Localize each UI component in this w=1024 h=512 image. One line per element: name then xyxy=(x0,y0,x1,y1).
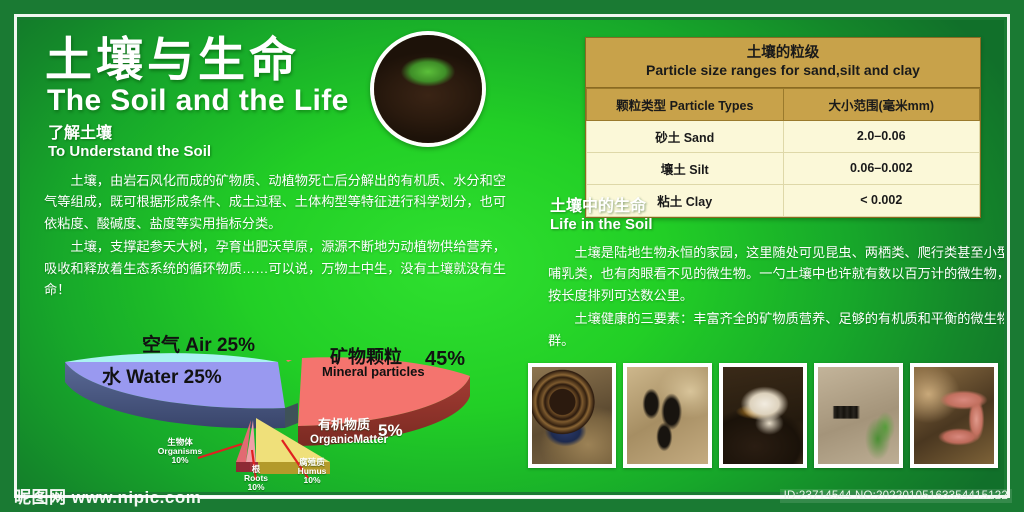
breakout-humus: 腐殖质 Humus 10% xyxy=(286,458,338,486)
soil-composition-pie-chart: 空气 Air 25% 水 Water 25% 矿物颗粒 Mineral part… xyxy=(40,310,480,490)
table-row: 砂土 Sand 2.0–0.06 xyxy=(587,120,980,152)
cell-type-sand: 砂土 Sand xyxy=(587,120,784,152)
breakout-roots: 根 Roots 10% xyxy=(232,465,280,492)
pie-label-air: 空气 Air 25% xyxy=(142,330,255,357)
cell-type-silt: 壤土 Silt xyxy=(587,152,784,184)
table-header-size-range: 大小范围(毫米mm) xyxy=(783,88,980,120)
pie-label-mineral-en: Mineral particles xyxy=(322,364,425,379)
left-heading-cn: 了解土壤 xyxy=(48,125,211,143)
right-heading-cn: 土壤中的生命 xyxy=(550,198,653,216)
breakout-organisms-pct: 10% xyxy=(148,456,212,465)
pie-label-water: 水 Water 25% xyxy=(102,362,222,389)
table-title-en: Particle size ranges for sand,silt and c… xyxy=(590,62,976,80)
breakout-humus-pct: 10% xyxy=(286,476,338,485)
left-paragraph-2: 土壤，支撑起参天大树，孕育出肥沃草原，源源不断地为动植物供给营养，吸收和释放着生… xyxy=(44,236,506,300)
table-row: 壤土 Silt 0.06–0.002 xyxy=(587,152,980,184)
photo-snail xyxy=(528,363,616,468)
table-header-particle-types: 颗粒类型 Particle Types xyxy=(587,88,784,120)
pie-label-mineral-pct: 45% xyxy=(425,348,465,371)
table-title: 土壤的粒级 Particle size ranges for sand,silt… xyxy=(586,38,980,88)
pie-chart-svg xyxy=(40,310,480,490)
pie-gap-shadow xyxy=(285,403,298,428)
page-title-en: The Soil and the Life xyxy=(47,86,349,116)
page-title-cn: 土壤与生命 xyxy=(45,36,300,83)
soil-life-photo-strip xyxy=(528,363,998,468)
photo-millipede xyxy=(814,363,902,468)
table-header-row: 颗粒类型 Particle Types 大小范围(毫米mm) xyxy=(587,88,980,120)
pie-label-organic-pct: 5% xyxy=(378,422,403,440)
right-paragraph-1: 土壤是陆地生物永恒的家园，这里随处可见昆虫、两栖类、爬行类甚至小型哺乳类，也有肉… xyxy=(548,242,1004,306)
photo-mushroom xyxy=(719,363,807,468)
right-body-text: 土壤是陆地生物永恒的家园，这里随处可见昆虫、两栖类、爬行类甚至小型哺乳类，也有肉… xyxy=(548,242,1004,353)
photo-ants xyxy=(623,363,711,468)
breakout-roots-pct: 10% xyxy=(232,483,280,492)
pie-label-organic-cn: 有机物质 xyxy=(318,418,370,432)
particle-size-table: 土壤的粒级 Particle size ranges for sand,silt… xyxy=(585,37,981,218)
section-heading-understand-soil: 了解土壤 To Understand the Soil xyxy=(48,125,211,161)
site-watermark: 昵图网 www.nipic.com xyxy=(14,483,201,508)
table-title-cn: 土壤的粒级 xyxy=(590,44,976,62)
poster-root: 土壤与生命 The Soil and the Life 了解土壤 To Unde… xyxy=(0,0,1024,512)
poster-stage: 土壤与生命 The Soil and the Life 了解土壤 To Unde… xyxy=(20,20,1004,492)
left-body-text: 土壤，由岩石风化而成的矿物质、动植物死亡后分解出的有机质、水分和空气等组成，既可… xyxy=(44,170,506,302)
cell-range-clay: < 0.002 xyxy=(783,184,980,216)
cell-range-silt: 0.06–0.002 xyxy=(783,152,980,184)
breakout-organisms: 生物体 Organisms 10% xyxy=(148,438,212,466)
pie-label-organic-en: OrganicMatter xyxy=(310,434,388,446)
image-id-strip: ID:23714544 NO:20220105163354415122 xyxy=(780,489,1012,503)
right-heading-en: Life in the Soil xyxy=(550,216,653,233)
cell-range-sand: 2.0–0.06 xyxy=(783,120,980,152)
photo-earthworm xyxy=(910,363,998,468)
right-paragraph-2: 土壤健康的三要素：丰富齐全的矿物质营养、足够的有机质和平衡的微生物群。 xyxy=(548,308,1004,351)
left-heading-en: To Understand the Soil xyxy=(48,143,211,160)
left-paragraph-1: 土壤，由岩石风化而成的矿物质、动植物死亡后分解出的有机质、水分和空气等组成，既可… xyxy=(44,170,506,234)
hero-photo-hands-soil-seedling xyxy=(370,31,486,147)
section-heading-life-in-soil: 土壤中的生命 Life in the Soil xyxy=(550,198,653,234)
hands-soil-image xyxy=(374,35,482,143)
